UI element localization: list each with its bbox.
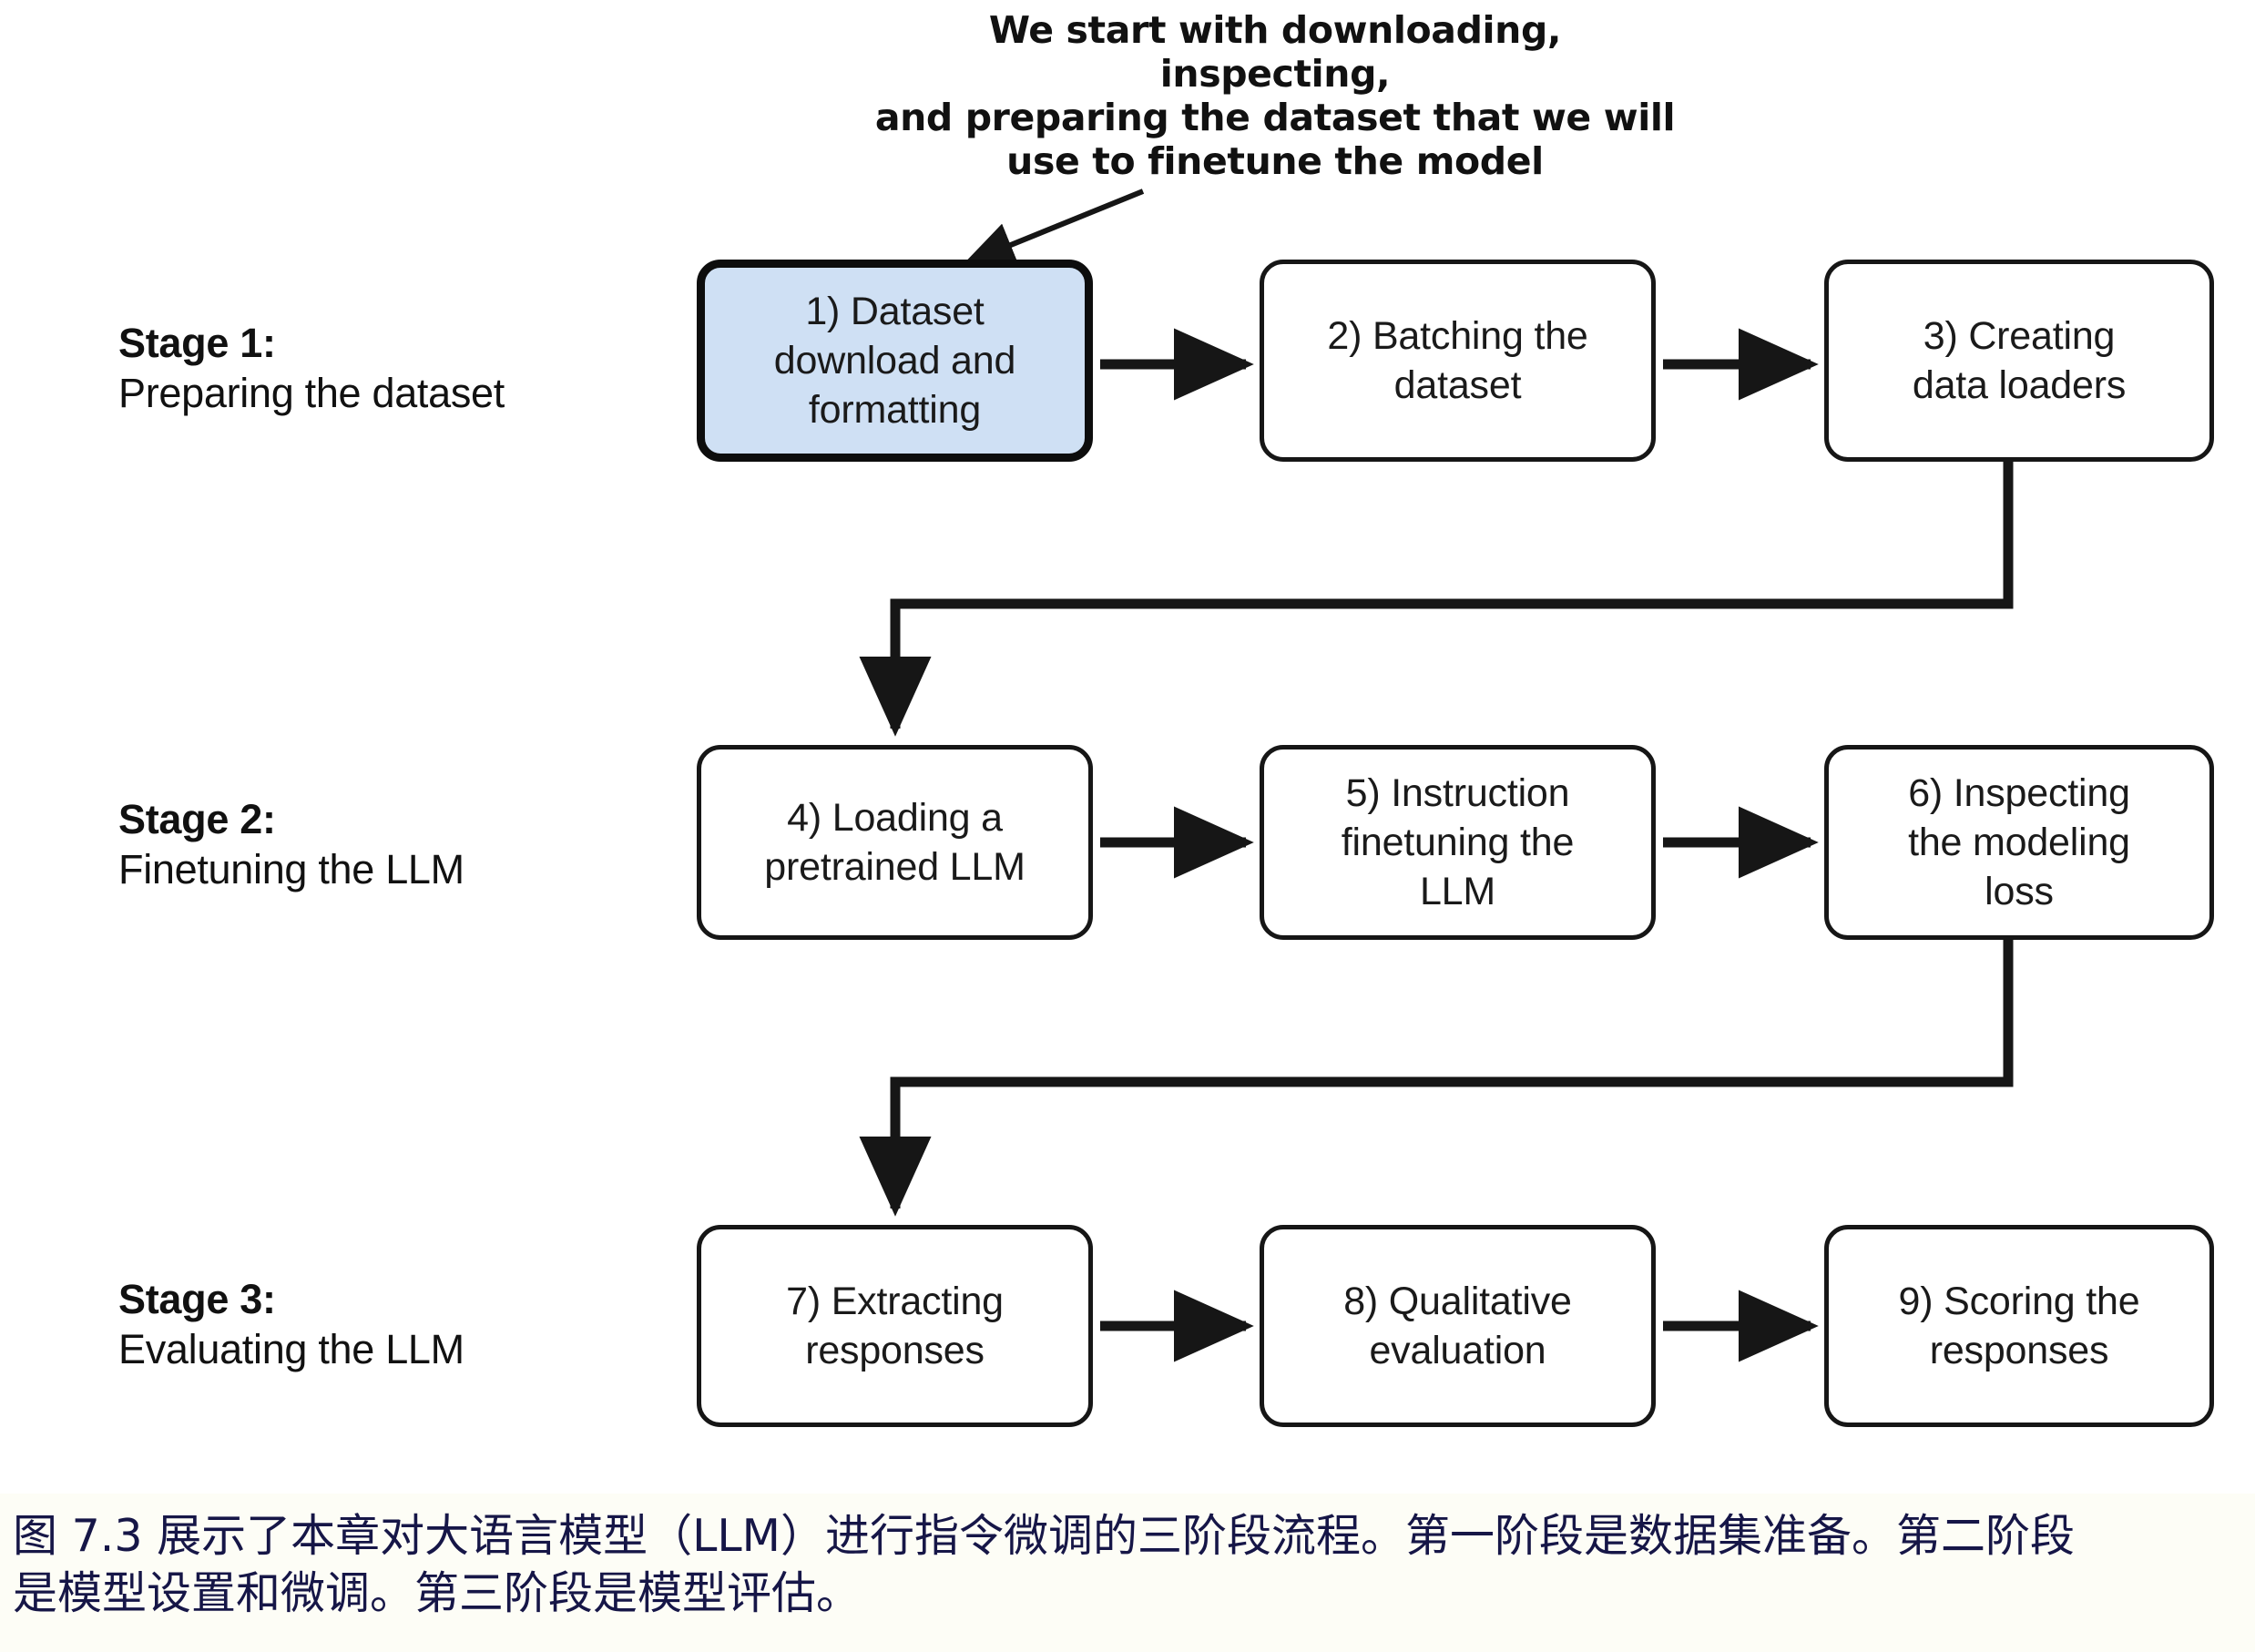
stage-3-title: Stage 3: (118, 1275, 701, 1325)
step-5-label: 5) Instruction finetuning the LLM (1277, 769, 1638, 917)
callout-line-2: and preparing the dataset that we will (874, 97, 1676, 140)
connector-3-to-4 (895, 462, 2008, 729)
stage-label-2: Stage 2: Finetuning the LLM (118, 795, 701, 895)
caption-line-2: 是模型设置和微调。第三阶段是模型评估。 (13, 1565, 2239, 1623)
stage-1-subtitle: Preparing the dataset (118, 369, 701, 419)
callout-line-1: We start with downloading, inspecting, (874, 9, 1676, 97)
step-box-2-batching-the-dataset[interactable]: 2) Batching the dataset (1260, 260, 1656, 462)
step-box-4-loading-a-pretrained-llm[interactable]: 4) Loading a pretrained LLM (697, 745, 1093, 940)
step-2-line-2: dataset (1394, 363, 1522, 407)
step-box-3-creating-data-loaders[interactable]: 3) Creating data loaders (1824, 260, 2214, 462)
caption-line-1: 图 7.3 展示了本章对大语言模型（LLM）进行指令微调的三阶段流程。第一阶段是… (13, 1508, 2239, 1565)
step-box-8-qualitative-evaluation[interactable]: 8) Qualitative evaluation (1260, 1225, 1656, 1427)
step-1-line-1: 1) Dataset (805, 290, 984, 333)
step-4-line-2: pretrained LLM (764, 845, 1025, 889)
annotation-arrow (968, 191, 1143, 262)
flowchart-diagram: We start with downloading, inspecting, a… (0, 0, 2255, 1494)
stage-1-title: Stage 1: (118, 319, 701, 369)
step-box-1-dataset-download-and-formatting[interactable]: 1) Dataset download and formatting (697, 260, 1093, 462)
stage-3-subtitle: Evaluating the LLM (118, 1325, 701, 1375)
step-5-line-3: LLM (1420, 870, 1495, 913)
step-9-label: 9) Scoring the responses (1842, 1277, 2197, 1375)
step-5-line-2: finetuning the (1342, 821, 1574, 864)
stage-2-subtitle: Finetuning the LLM (118, 845, 701, 895)
connector-6-to-7 (895, 940, 2008, 1208)
callout-note: We start with downloading, inspecting, a… (874, 9, 1676, 184)
step-box-7-extracting-responses[interactable]: 7) Extracting responses (697, 1225, 1093, 1427)
step-box-5-instruction-finetuning-the-llm[interactable]: 5) Instruction finetuning the LLM (1260, 745, 1656, 940)
step-9-line-1: 9) Scoring the (1899, 1280, 2140, 1323)
step-2-line-1: 2) Batching the (1327, 314, 1587, 358)
step-2-label: 2) Batching the dataset (1277, 311, 1638, 410)
figure-page: We start with downloading, inspecting, a… (0, 0, 2255, 1652)
stage-label-3: Stage 3: Evaluating the LLM (118, 1275, 701, 1375)
step-box-9-scoring-the-responses[interactable]: 9) Scoring the responses (1824, 1225, 2214, 1427)
step-8-label: 8) Qualitative evaluation (1277, 1277, 1638, 1375)
callout-line-3: use to finetune the model (874, 140, 1676, 184)
figure-caption: 图 7.3 展示了本章对大语言模型（LLM）进行指令微调的三阶段流程。第一阶段是… (0, 1494, 2255, 1652)
step-6-line-3: loss (1985, 870, 2054, 913)
step-8-line-1: 8) Qualitative (1343, 1280, 1572, 1323)
step-7-line-2: responses (805, 1329, 985, 1372)
step-6-line-2: the modeling (1908, 821, 2130, 864)
step-9-line-2: responses (1930, 1329, 2109, 1372)
step-6-label: 6) Inspecting the modeling loss (1842, 769, 2197, 917)
step-4-label: 4) Loading a pretrained LLM (714, 793, 1076, 892)
step-box-6-inspecting-the-modeling-loss[interactable]: 6) Inspecting the modeling loss (1824, 745, 2214, 940)
step-7-line-1: 7) Extracting (786, 1280, 1004, 1323)
stage-2-title: Stage 2: (118, 795, 701, 845)
step-7-label: 7) Extracting responses (714, 1277, 1076, 1375)
step-4-line-1: 4) Loading a (787, 796, 1003, 840)
step-1-line-2: download and (774, 339, 1015, 382)
step-3-line-2: data loaders (1913, 363, 2126, 407)
step-5-line-1: 5) Instruction (1346, 771, 1570, 815)
step-1-label: 1) Dataset download and formatting (718, 287, 1072, 435)
step-1-line-3: formatting (809, 388, 981, 432)
step-6-line-1: 6) Inspecting (1908, 771, 2130, 815)
step-3-label: 3) Creating data loaders (1842, 311, 2197, 410)
stage-label-1: Stage 1: Preparing the dataset (118, 319, 701, 419)
step-3-line-1: 3) Creating (1923, 314, 2116, 358)
step-8-line-2: evaluation (1369, 1329, 1546, 1372)
